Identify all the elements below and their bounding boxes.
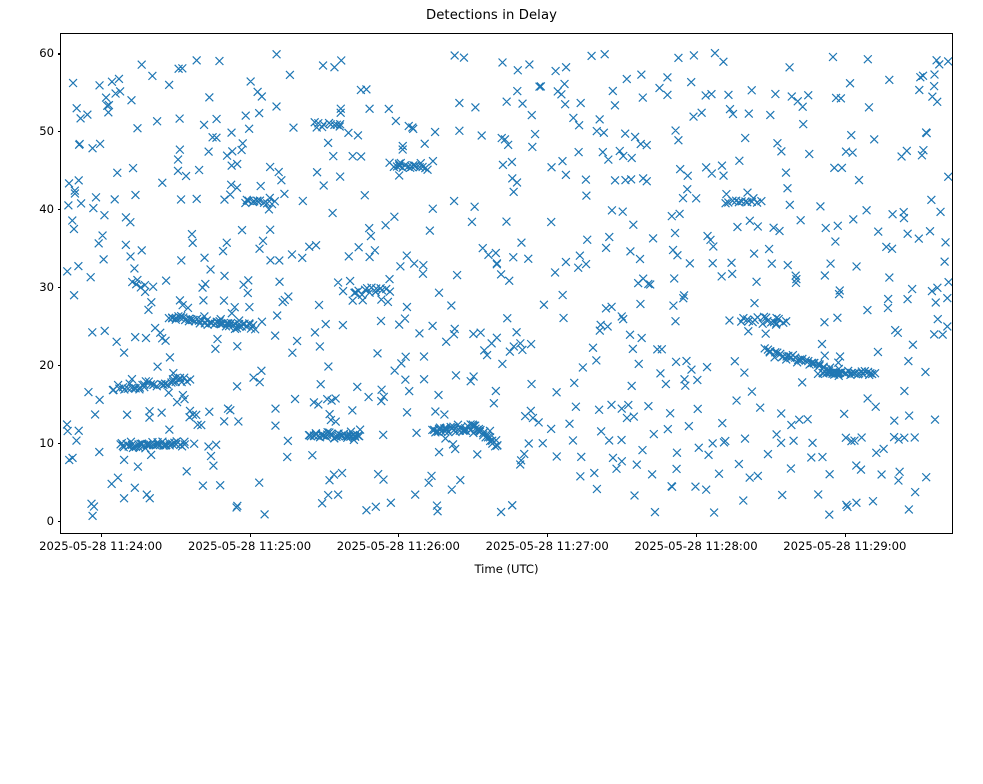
- x-tick-label: 2025-05-28 11:28:00: [634, 539, 757, 553]
- y-tick-label: 20: [39, 358, 54, 372]
- y-tick-mark: [58, 443, 62, 444]
- x-tick-label: 2025-05-28 11:24:00: [39, 539, 162, 553]
- x-axis-label: Time (UTC): [60, 562, 953, 576]
- figure-canvas: Detections in Delay 0102030405060 2025-0…: [0, 0, 983, 590]
- y-tick-label: 10: [39, 436, 54, 450]
- x-tick-mark: [250, 533, 251, 537]
- y-tick-mark: [58, 287, 62, 288]
- x-tick-mark: [547, 533, 548, 537]
- y-tick-mark: [58, 365, 62, 366]
- x-tick-mark: [696, 533, 697, 537]
- y-tick-mark: [58, 209, 62, 210]
- scatter-markers: [63, 49, 952, 520]
- y-tick-label: 50: [39, 124, 54, 138]
- plot-axes: 0102030405060 2025-05-28 11:24:002025-05…: [60, 33, 953, 534]
- x-tick-mark: [398, 533, 399, 537]
- chart-title: Detections in Delay: [0, 8, 983, 23]
- x-tick-label: 2025-05-28 11:26:00: [337, 539, 460, 553]
- y-tick-label: 60: [39, 46, 54, 60]
- x-tick-label: 2025-05-28 11:25:00: [188, 539, 311, 553]
- x-tick-mark: [845, 533, 846, 537]
- y-tick-mark: [58, 521, 62, 522]
- plot-area: [61, 34, 952, 533]
- x-tick-label: 2025-05-28 11:29:00: [783, 539, 906, 553]
- x-tick-mark: [101, 533, 102, 537]
- x-tick-label: 2025-05-28 11:27:00: [486, 539, 609, 553]
- y-tick-label: 0: [47, 514, 54, 528]
- y-tick-label: 30: [39, 280, 54, 294]
- scatter-series: [61, 34, 952, 533]
- y-tick-mark: [58, 131, 62, 132]
- y-tick-label: 40: [39, 202, 54, 216]
- y-tick-mark: [58, 53, 62, 54]
- y-axis-label-wrap: Bistatic Delay (km): [14, 33, 30, 534]
